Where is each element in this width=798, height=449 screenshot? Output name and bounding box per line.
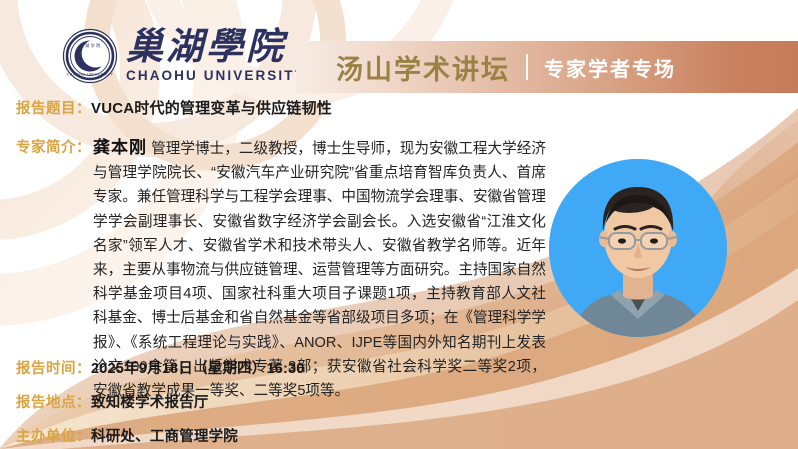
series-banner: 汤山学术讲坛 专家学者专场	[296, 41, 798, 93]
university-name-cn: 巢湖學院	[126, 29, 306, 68]
series-title: 汤山学术讲坛	[336, 48, 510, 87]
university-seal-icon: 巢 湖 学 院 CHAOHU UNIVERSITY	[62, 28, 118, 84]
report-host-value: 科研处、工商管理学院	[91, 425, 238, 446]
series-subtitle: 专家学者专场	[544, 53, 676, 82]
topic-value: VUCA时代的管理变革与供应链韧性	[91, 97, 332, 118]
svg-text:CHAOHU UNIVERSITY: CHAOHU UNIVERSITY	[67, 73, 114, 77]
banner-divider	[526, 54, 528, 80]
topic-row: 报告题目： VUCA时代的管理变革与供应链韧性	[16, 97, 332, 118]
report-host-row: 主办单位： 科研处、工商管理学院	[16, 425, 238, 446]
seminar-poster: 巢 湖 学 院 CHAOHU UNIVERSITY 巢湖學院 CHAOHU UN…	[0, 0, 798, 449]
poster-header: 巢 湖 学 院 CHAOHU UNIVERSITY 巢湖學院 CHAOHU UN…	[0, 0, 798, 96]
university-name-en: CHAOHU UNIVERSITY	[126, 68, 306, 83]
report-time-row: 报告时间： 2025年9月18日（星期四）16:30	[16, 357, 305, 378]
speaker-portrait-image	[549, 159, 727, 337]
report-time-value: 2025年9月18日（星期四）16:30	[91, 357, 305, 378]
university-logo: 巢 湖 学 院 CHAOHU UNIVERSITY 巢湖學院 CHAOHU UN…	[62, 28, 306, 84]
report-time-label: 报告时间：	[16, 357, 91, 378]
university-name-block: 巢湖學院 CHAOHU UNIVERSITY	[126, 29, 306, 84]
report-host-label: 主办单位：	[16, 425, 91, 446]
speaker-portrait	[549, 159, 727, 337]
report-place-value: 致知楼学术报告厅	[91, 391, 209, 412]
speaker-name: 龚本刚	[93, 138, 147, 157]
report-place-label: 报告地点：	[16, 391, 91, 412]
bio-label: 专家简介：	[16, 136, 91, 157]
svg-text:巢 湖 学 院: 巢 湖 学 院	[80, 42, 102, 49]
report-place-row: 报告地点： 致知楼学术报告厅	[16, 391, 209, 412]
topic-label: 报告题目：	[16, 97, 91, 118]
